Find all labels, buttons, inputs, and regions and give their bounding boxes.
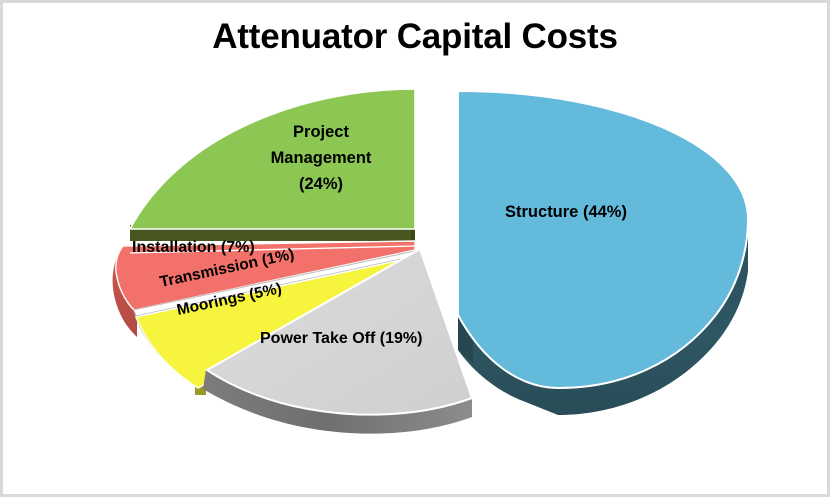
label-power-take-off: Power Take Off (19%) (260, 330, 422, 347)
label-project-management-line2: Management (271, 149, 372, 167)
chart-frame: Attenuator Capital Costs (0, 0, 830, 497)
label-installation: Installation (7%) (132, 239, 255, 256)
slice-structure-group (458, 91, 748, 415)
label-project-management-line1: Project (293, 123, 349, 141)
label-structure: Structure (44%) (505, 203, 627, 221)
pie-chart-graphic: Project Management (24%) Structure (44%)… (3, 3, 827, 494)
label-project-management-line3: (24%) (299, 175, 343, 193)
